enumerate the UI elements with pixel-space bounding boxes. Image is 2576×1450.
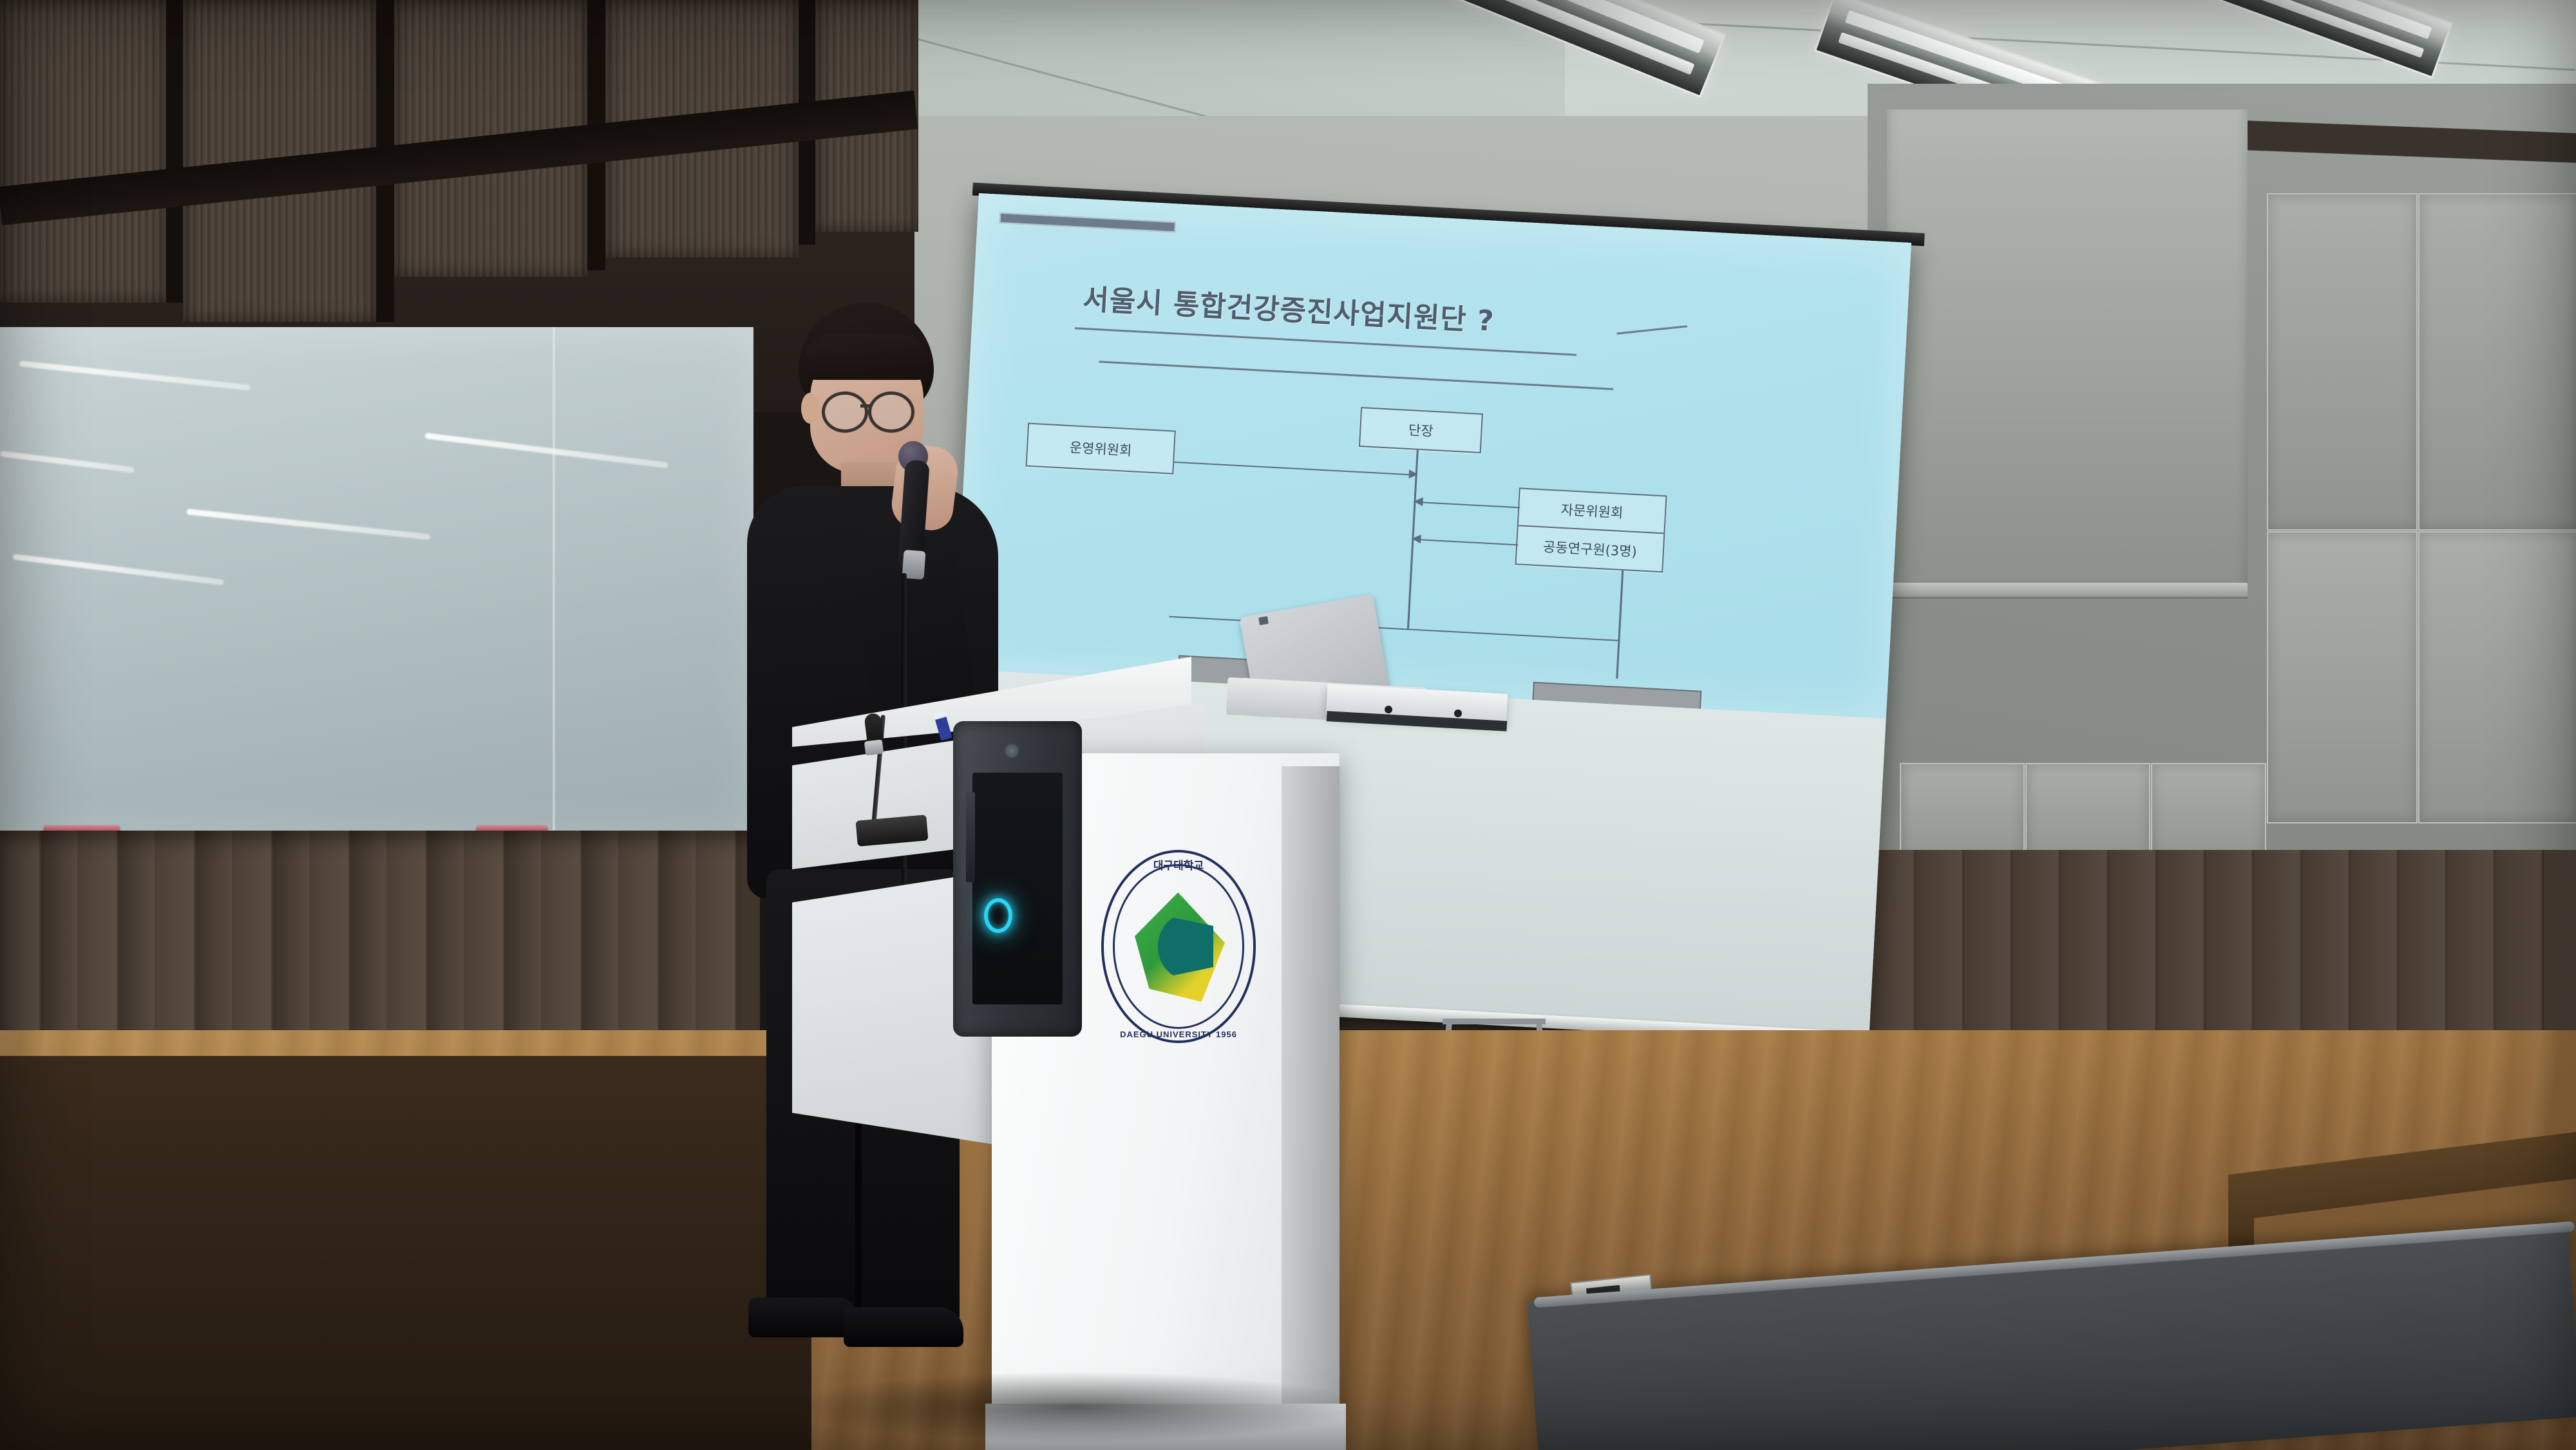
org-connector-team2-drop: [1616, 640, 1620, 679]
glasses-icon: [822, 391, 868, 433]
floor-shadow-left: [0, 1056, 811, 1450]
org-node-steering-committee: 운영위원회: [1026, 423, 1176, 475]
slide-underline-secondary: [1099, 361, 1613, 390]
acoustic-panel: [2267, 531, 2418, 824]
glass-mullion: [553, 327, 555, 836]
acoustic-panel: [2418, 531, 2576, 824]
speaker-fringe: [802, 334, 931, 380]
slide-accent-bar: [999, 212, 1177, 233]
acoustic-panel: [2418, 193, 2576, 531]
projected-slide: 서울시 통합건강증진사업지원단 ? 단장 운영위원회 자문위원회 공동연구원(3…: [954, 193, 1911, 719]
org-connector-coresearch: [1412, 539, 1518, 546]
glasses-icon: [868, 391, 914, 433]
podium-shading: [1282, 766, 1340, 1449]
org-node-co-researchers: 공동연구원(3명): [1515, 525, 1665, 572]
roller-blind[interactable]: [1887, 109, 2248, 599]
tower-drive-slot: [966, 792, 975, 882]
org-connector-advisory: [1414, 502, 1520, 509]
speaker-ear: [801, 393, 819, 424]
roller-blind-hem[interactable]: [1887, 583, 2248, 597]
tower-front-bay: [972, 773, 1063, 1004]
logo-text-korean: 대구대학교: [1101, 856, 1256, 872]
glasses-bridge: [860, 404, 871, 408]
logo-text-english: DAEGU UNIVERSITY 1956: [1101, 1030, 1256, 1039]
org-arrow-left: [1408, 469, 1418, 479]
power-button-icon[interactable]: [984, 898, 1012, 933]
wood-panel: [0, 0, 167, 303]
wood-gap: [166, 0, 183, 303]
org-connector-left: [1174, 462, 1417, 476]
org-arrow-advisory: [1414, 497, 1423, 507]
org-connector-right-drop: [1618, 570, 1624, 641]
left-wainscot: [0, 831, 760, 1043]
tower-screw-icon: [1005, 744, 1019, 758]
frosted-glass-partition: [0, 327, 753, 836]
podium-floor-shadow: [786, 1371, 1365, 1442]
gooseneck-mic-collar: [864, 739, 884, 755]
slide-accent-tick: [1616, 325, 1687, 334]
org-connector-teams-bus: [1169, 616, 1619, 641]
acoustic-panel: [2267, 193, 2418, 531]
org-arrow-coresearch: [1412, 534, 1421, 544]
daegu-university-logo: 대구대학교 DAEGU UNIVERSITY 1956: [1101, 850, 1256, 1043]
laptop-logo-icon: [1258, 616, 1269, 625]
org-node-root: 단장: [1359, 407, 1483, 453]
presentation-room-photo: 서울시 통합건강증진사업지원단 ? 단장 운영위원회 자문위원회 공동연구원(3…: [0, 0, 2576, 1450]
chair-rail: [1443, 1019, 1546, 1024]
